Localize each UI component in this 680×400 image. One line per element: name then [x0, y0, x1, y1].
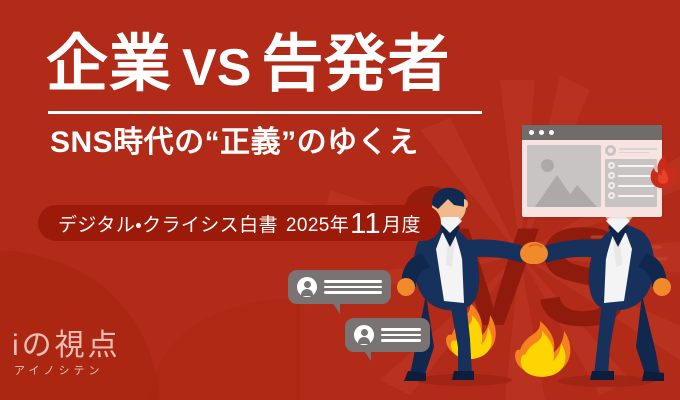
brand-logo: iの視点 アイノシテン	[12, 330, 121, 378]
page-title: 企業VS告発者	[46, 28, 506, 105]
user-avatar-icon	[608, 162, 615, 169]
user-avatar-icon	[608, 182, 615, 189]
badge-month-number: 11	[349, 210, 382, 239]
title-right-term: 告発者	[261, 30, 450, 99]
user-avatar-icon	[608, 192, 615, 199]
chat-bubble	[288, 270, 391, 304]
browser-titlebar	[522, 125, 662, 140]
browser-window-mock	[522, 125, 662, 217]
user-avatar-icon	[354, 325, 374, 345]
browser-content	[522, 140, 662, 212]
page-subtitle: SNS時代の“正義”のゆくえ	[50, 126, 506, 160]
window-dot-minimize	[539, 130, 544, 135]
window-dot-maximize	[549, 130, 554, 135]
headline-block: 企業VS告発者 SNS時代の“正義”のゆくえ	[46, 28, 506, 160]
chat-bubble	[345, 318, 430, 352]
bubble-text-lines	[381, 328, 421, 342]
badge-month-suffix: 月度	[382, 210, 421, 237]
window-dot-close	[529, 130, 534, 135]
image-placeholder-icon	[527, 145, 601, 207]
bubble-tail	[363, 349, 371, 361]
flame-icon	[648, 155, 678, 196]
banner-canvas: 企業VS告発者 SNS時代の“正義”のゆくえ デジタル・クライシス白書2025年…	[0, 0, 680, 400]
badge-year: 2025年	[286, 210, 349, 237]
issue-badge: デジタル・クライシス白書2025年11月度	[38, 205, 441, 241]
bubble-tail	[332, 302, 340, 314]
user-avatar-icon	[297, 277, 317, 297]
brand-logo-reading: アイノシテン	[14, 365, 121, 378]
badge-prefix: デジタル・クライシス白書	[58, 210, 278, 237]
title-vs-word: VS	[172, 39, 261, 97]
profile-text-lines	[619, 148, 657, 153]
bubble-text-lines	[324, 280, 382, 294]
brand-logo-main: iの視点	[12, 330, 121, 362]
user-avatar-icon	[608, 172, 615, 179]
title-left-term: 企業	[46, 30, 172, 99]
title-divider	[48, 111, 482, 114]
user-avatar-icon	[605, 145, 616, 156]
